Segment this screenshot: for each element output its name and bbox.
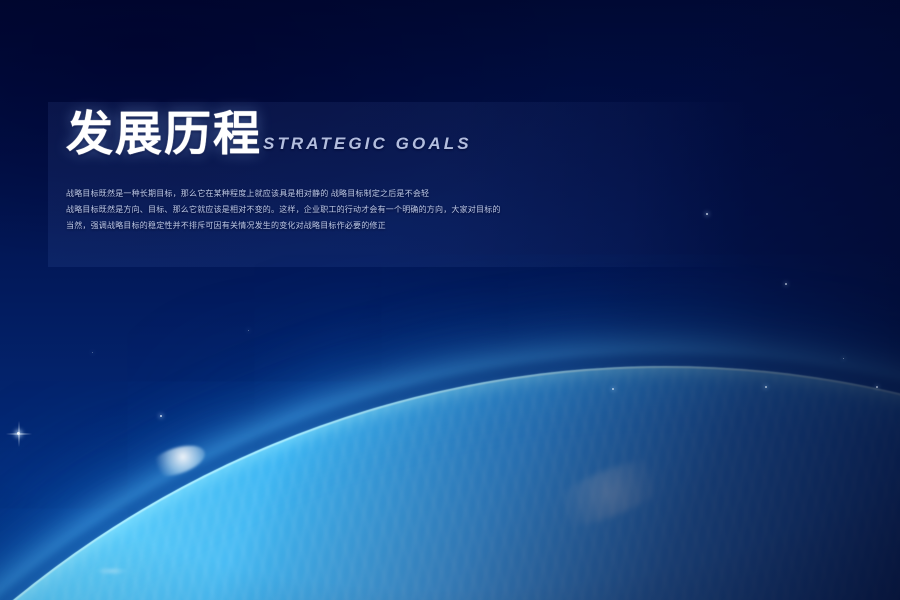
description-line: 战略目标既然是方向、目标、那么它就应该是相对不变的。这样，企业职工的行动才会有一… — [66, 202, 666, 218]
star-dot — [612, 388, 614, 390]
four-point-star-icon — [17, 432, 20, 435]
description-text: 战略目标既然是一种长期目标，那么它在某种程度上就应该具是相对静的 战略目标制定之… — [66, 186, 666, 234]
page-title: 发展历程 — [66, 112, 262, 159]
star-dot — [785, 283, 787, 285]
page-subtitle: STRATEGIC GOALS — [263, 134, 472, 159]
star-dot — [765, 386, 767, 388]
description-line: 当然，强调战略目标的稳定性并不排斥可因有关情况发生的变化对战略目标作必要的修正 — [66, 218, 666, 234]
hero-banner: 发展历程 STRATEGIC GOALS 战略目标既然是一种长期目标，那么它在某… — [0, 0, 900, 600]
earth-graphic — [0, 0, 900, 600]
headline-group: 发展历程 STRATEGIC GOALS — [66, 112, 472, 159]
day-night-terminator — [0, 0, 900, 600]
star-dot — [876, 386, 878, 388]
description-line: 战略目标既然是一种长期目标，那么它在某种程度上就应该具是相对静的 战略目标制定之… — [66, 186, 666, 202]
